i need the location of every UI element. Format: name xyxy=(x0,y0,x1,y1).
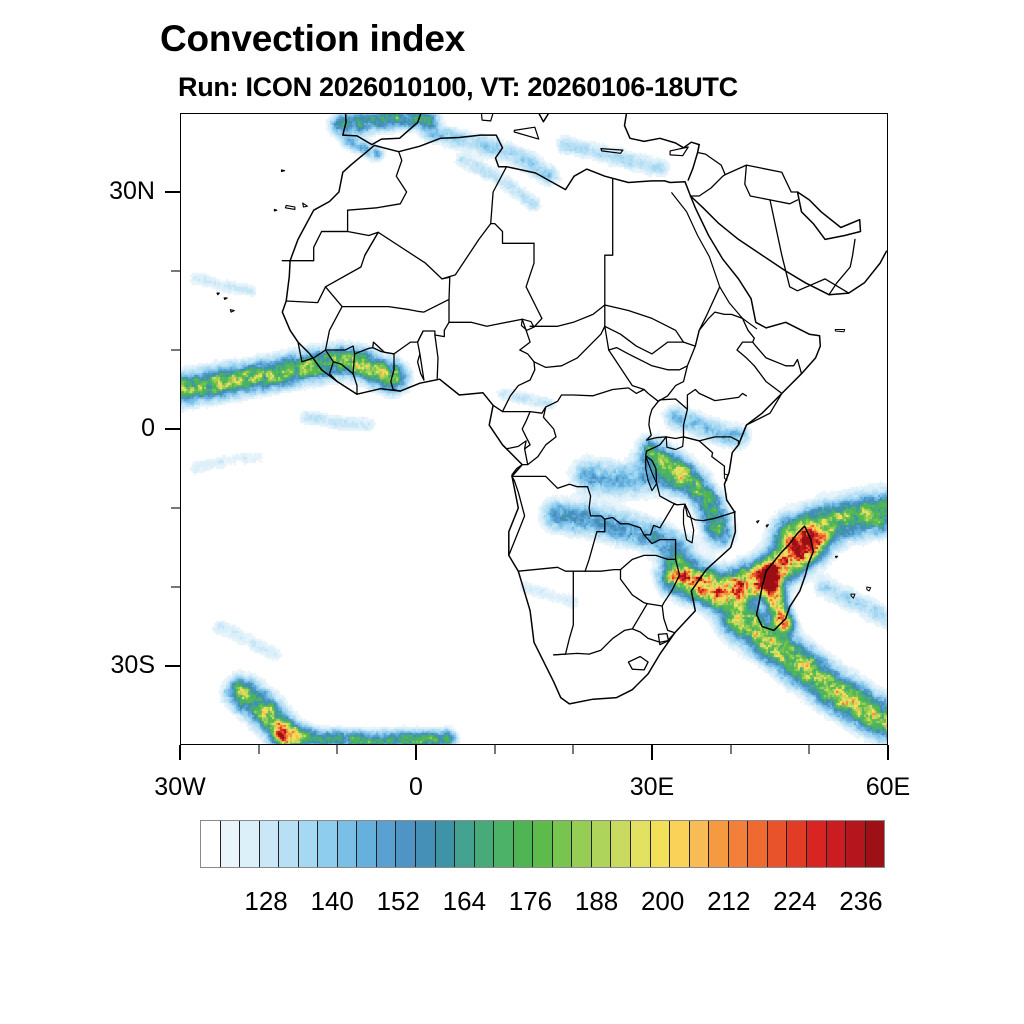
run-valid-time-subtitle: Run: ICON 2026010100, VT: 20260106-18UTC xyxy=(178,72,738,103)
colorbar-cell xyxy=(279,821,299,867)
map-svg xyxy=(180,113,888,745)
geo-path xyxy=(491,224,534,244)
colorbar-cell xyxy=(768,821,788,867)
colorbar-cell xyxy=(846,821,866,867)
y-axis-label: 0 xyxy=(5,414,155,443)
colorbar-cell xyxy=(827,821,847,867)
geo-path xyxy=(518,567,585,571)
axis-tick xyxy=(887,745,889,760)
geo-path xyxy=(224,298,227,300)
geo-path xyxy=(672,193,757,329)
axis-tick xyxy=(171,349,180,351)
geo-path xyxy=(605,326,684,354)
colorbar-cell xyxy=(709,821,729,867)
geo-path xyxy=(217,293,219,295)
axis-tick xyxy=(165,428,180,430)
geo-path xyxy=(605,179,613,305)
geo-path xyxy=(526,243,542,327)
axis-tick xyxy=(730,745,732,754)
axis-tick xyxy=(651,745,653,760)
colorbar-cell xyxy=(455,821,475,867)
geo-path xyxy=(585,570,620,572)
colorbar-cell xyxy=(318,821,338,867)
colorbar-cell xyxy=(533,821,553,867)
colorbar-cell xyxy=(651,821,671,867)
geo-path xyxy=(230,310,234,312)
geo-path xyxy=(609,350,688,401)
geo-path xyxy=(698,145,726,175)
axis-tick xyxy=(494,745,496,754)
axis-tick xyxy=(171,507,180,509)
geo-path xyxy=(695,312,742,346)
colorbar-cell xyxy=(787,821,807,867)
axis-tick xyxy=(415,745,417,760)
geo-path xyxy=(625,113,700,148)
colorbar-cell xyxy=(553,821,573,867)
geo-path xyxy=(621,570,648,604)
colorbar-cell xyxy=(416,821,436,867)
colorbar-cell xyxy=(592,821,612,867)
axis-tick xyxy=(808,745,810,754)
geo-path xyxy=(442,224,491,279)
colorbar-cell xyxy=(396,821,416,867)
geo-path xyxy=(798,192,861,239)
colorbar-cell xyxy=(436,821,456,867)
colorbar-cell xyxy=(260,821,280,867)
geo-path xyxy=(770,200,849,293)
geo-path xyxy=(530,305,605,326)
geo-path xyxy=(605,287,720,346)
colorbar[interactable] xyxy=(200,820,885,868)
geo-path xyxy=(670,147,688,156)
axis-tick xyxy=(171,270,180,272)
colorbar-cell xyxy=(748,821,768,867)
colorbar-cell xyxy=(631,821,651,867)
colorbar-cell xyxy=(611,821,631,867)
colorbar-cell xyxy=(338,821,358,867)
axis-tick xyxy=(336,745,338,754)
axis-tick xyxy=(171,586,180,588)
colorbar-cell xyxy=(690,821,710,867)
geo-path xyxy=(745,165,798,204)
colorbar-cell xyxy=(201,821,221,867)
x-axis-label: 60E xyxy=(828,773,948,802)
geo-path xyxy=(534,305,605,367)
colorbar-cell xyxy=(494,821,514,867)
convection-index-figure: Convection index Run: ICON 2026010100, V… xyxy=(0,0,1024,1024)
colorbar-cell xyxy=(475,821,495,867)
x-axis-label: 0 xyxy=(356,773,476,802)
colorbar-cell xyxy=(729,821,749,867)
geo-path xyxy=(691,175,726,196)
geo-path xyxy=(285,205,295,209)
geo-path xyxy=(522,407,556,465)
x-axis-label: 30E xyxy=(592,773,712,802)
x-axis-label: 30W xyxy=(120,773,240,802)
y-axis-label: 30S xyxy=(5,651,155,680)
colorbar-cell xyxy=(299,821,319,867)
geo-path xyxy=(435,335,438,378)
geo-path xyxy=(835,330,844,332)
geo-path xyxy=(481,113,494,121)
geo-path xyxy=(509,476,525,555)
map-plot-area xyxy=(180,113,888,745)
colorbar-cell xyxy=(670,821,690,867)
colorbar-cell xyxy=(377,821,397,867)
geo-path xyxy=(724,474,727,480)
page-title: Convection index xyxy=(160,18,465,60)
geo-path xyxy=(554,571,574,655)
geo-path xyxy=(286,232,378,303)
geo-path xyxy=(725,165,797,192)
colorbar-cell xyxy=(807,821,827,867)
geo-path xyxy=(757,521,759,523)
colorbar-cell xyxy=(866,821,885,867)
colorbar-cell xyxy=(514,821,534,867)
y-axis-label: 30N xyxy=(5,177,155,206)
colorbar-cell xyxy=(572,821,592,867)
colorbar-tick-label: 236 xyxy=(811,886,911,917)
geo-path xyxy=(282,170,285,172)
geo-path xyxy=(829,239,855,294)
geo-path xyxy=(628,657,648,670)
geo-path xyxy=(326,232,450,312)
axis-tick xyxy=(179,745,181,760)
colorbar-cell xyxy=(221,821,241,867)
geo-path xyxy=(449,319,522,326)
colorbar-cell xyxy=(240,821,260,867)
axis-tick xyxy=(165,191,180,193)
geo-path xyxy=(867,587,871,591)
geo-path xyxy=(503,441,528,465)
geo-path xyxy=(647,604,675,633)
geo-path xyxy=(274,209,276,211)
axis-tick xyxy=(165,665,180,667)
axis-tick xyxy=(572,745,574,754)
geo-path xyxy=(514,127,538,139)
geo-path xyxy=(282,210,347,261)
colorbar-cell xyxy=(357,821,377,867)
axis-tick xyxy=(258,745,260,754)
geo-path xyxy=(303,203,308,207)
